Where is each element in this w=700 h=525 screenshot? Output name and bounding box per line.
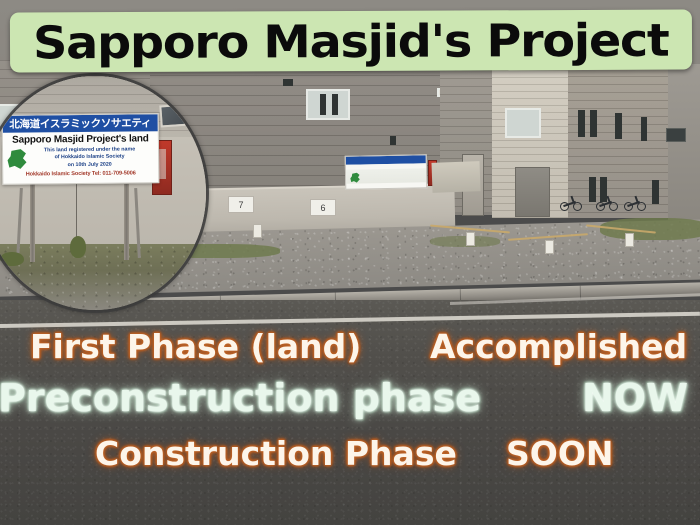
rope-post	[545, 240, 554, 254]
wall-lamp-center	[283, 79, 293, 86]
phase-1-status: Accomplished	[430, 330, 687, 363]
page-title: Sapporo Masjid's Project	[27, 17, 675, 65]
garage-door	[515, 167, 550, 217]
weed-sprout	[0, 252, 24, 266]
grass-patch	[430, 236, 500, 247]
window-slit-r-1	[578, 110, 585, 137]
solar-panel-icon	[159, 102, 204, 127]
circular-photo-inset: 北海道イスラミックソサエティ Sapporo Masjid Project's …	[0, 76, 206, 310]
bicycle-3	[624, 198, 648, 212]
rope-post	[253, 224, 262, 238]
site-sign: 北海道イスラミックソサエティ Sapporo Masjid Project's …	[2, 113, 160, 185]
window-center-upper	[306, 89, 350, 120]
sign-body-line-3: on 10th July 2020	[25, 161, 154, 170]
window-slit-r-3	[615, 113, 622, 139]
sign-japanese-line: 北海道イスラミックソサエティ	[3, 114, 158, 133]
phase-1-label: First Phase (land)	[30, 330, 361, 363]
title-banner: Sapporo Masjid's Project	[10, 10, 692, 73]
site-sign-small	[345, 154, 428, 189]
slide-root: 7 6	[0, 0, 700, 525]
sign-post-left	[30, 184, 35, 262]
sign-post-right	[124, 184, 129, 260]
window-slit-center-2	[332, 94, 338, 115]
window-slit-r-2	[590, 110, 597, 137]
weed-sprout	[70, 236, 86, 258]
lot-number-marker: 6	[310, 199, 336, 216]
window-slit-r-5	[589, 177, 596, 202]
window-right-building	[505, 108, 541, 138]
utility-box-slot	[159, 149, 166, 179]
lot-number-marker: 7	[228, 196, 254, 213]
sign-body: This land registered under the name of H…	[3, 146, 158, 170]
bicycle-2	[596, 198, 620, 212]
sign-footer-contact: Hokkaido Islamic Society Tel: 011-709-50…	[3, 170, 158, 178]
phase-3-status: SOON	[506, 437, 614, 470]
phase-2-label: Preconstruction phase	[0, 379, 481, 417]
tarp-cover	[431, 161, 480, 193]
rope-post	[625, 233, 634, 247]
window-slit-center	[320, 94, 326, 115]
bicycle-1	[560, 198, 584, 212]
window-slit-r-7	[652, 180, 659, 204]
phase-3-label: Construction Phase	[95, 437, 457, 470]
phase-2-status: NOW	[582, 379, 688, 417]
ac-unit-right	[666, 128, 686, 142]
sign-english-title: Sapporo Masjid Project's land	[3, 133, 158, 146]
building-right-4	[668, 64, 700, 220]
wall-lamp-right	[390, 136, 396, 145]
rope-post	[466, 232, 475, 246]
window-slit-r-4	[641, 117, 647, 141]
